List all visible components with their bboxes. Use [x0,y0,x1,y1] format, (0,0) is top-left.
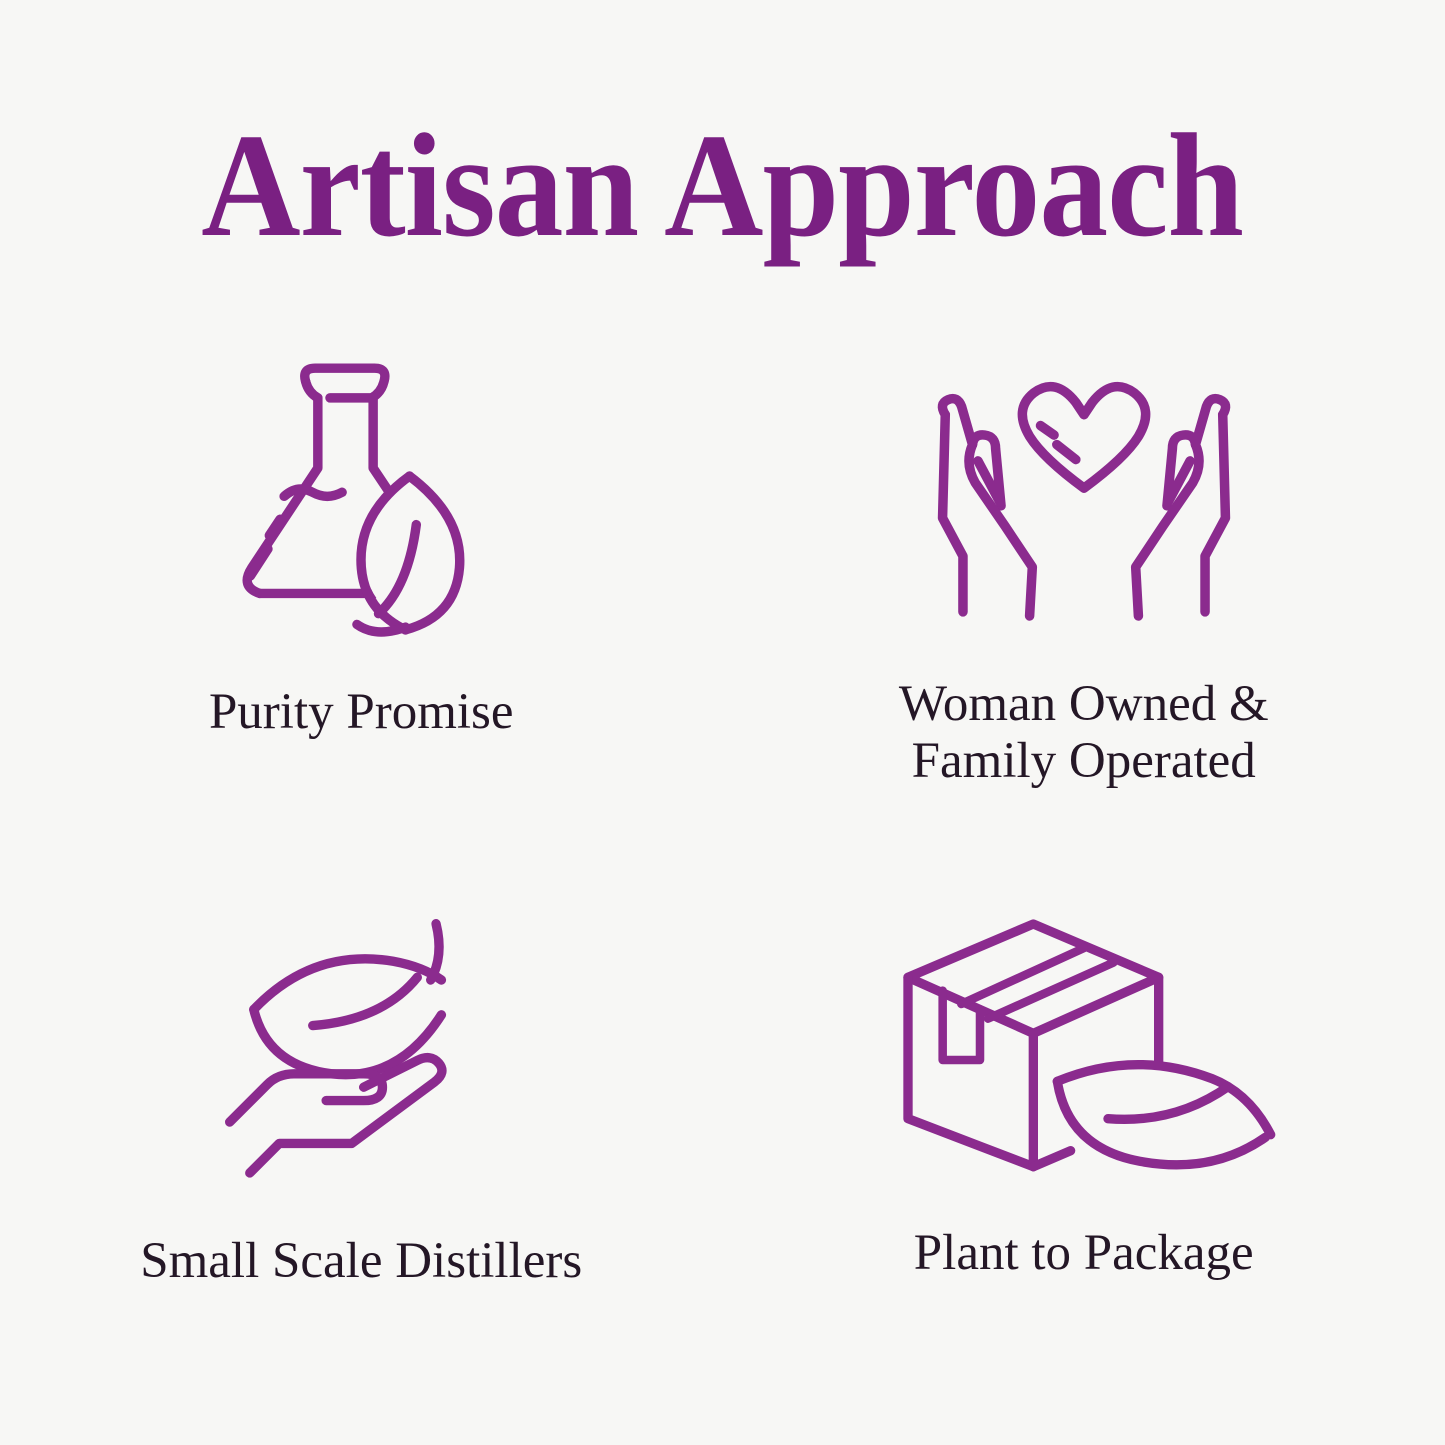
page-title-container: Artisan Approach [0,112,1445,260]
feature-label-woman-owned: Woman Owned & Family Operated [899,676,1269,790]
page-title: Artisan Approach [202,112,1244,260]
flask-leaf-icon [201,352,521,642]
feature-grid: Purity Promise [0,330,1445,1400]
feature-small-scale-distillers: Small Scale Distillers [0,865,723,1400]
artisan-approach-poster: Artisan Approach [0,0,1445,1445]
feature-label-plant-to-package: Plant to Package [914,1225,1254,1282]
feature-label-purity-promise: Purity Promise [209,684,514,741]
leaf-in-hand-icon [211,913,511,1181]
feature-plant-to-package: Plant to Package [723,865,1445,1400]
feature-woman-owned: Woman Owned & Family Operated [723,330,1445,865]
box-leaf-icon [884,905,1284,1183]
hands-heart-icon [914,360,1254,638]
feature-label-small-scale-distillers: Small Scale Distillers [140,1233,582,1290]
feature-purity-promise: Purity Promise [0,330,723,865]
